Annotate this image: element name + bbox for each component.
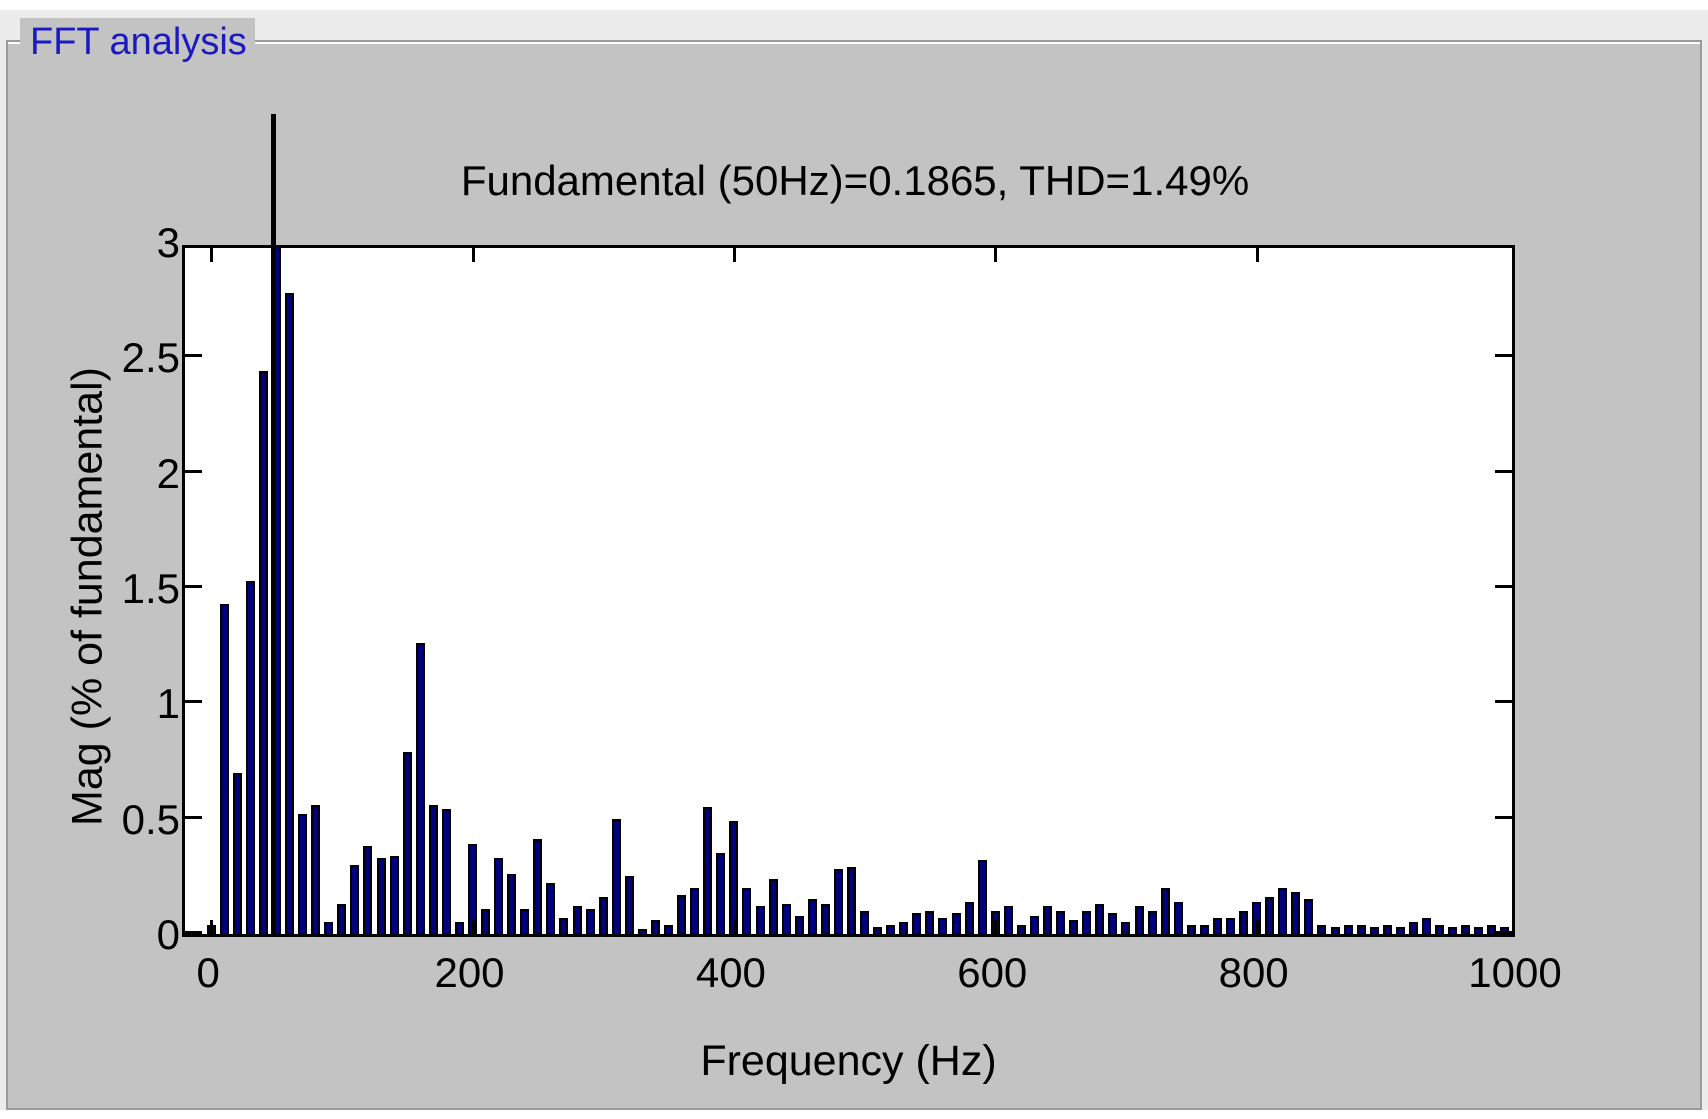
bar [1370, 927, 1379, 934]
x-tick [733, 248, 736, 262]
y-tick-label: 0 [157, 911, 180, 959]
bar [429, 805, 438, 934]
bar [1030, 916, 1039, 934]
bar [520, 909, 529, 934]
fft-analysis-panel: FFT analysis Fundamental (50Hz)=0.1865, … [0, 10, 1708, 1110]
bar [899, 922, 908, 934]
bar [403, 752, 412, 934]
bar [1265, 897, 1274, 934]
chart-title: Fundamental (50Hz)=0.1865, THD=1.49% [190, 157, 1520, 205]
bar [311, 805, 320, 934]
y-tick [1495, 816, 1512, 819]
bar [1069, 920, 1078, 934]
bar [978, 860, 987, 934]
x-tick [472, 248, 475, 262]
bar [494, 858, 503, 934]
bar [233, 773, 242, 934]
bar [821, 904, 830, 934]
bar [651, 920, 660, 934]
bar [860, 911, 869, 934]
y-tick [1495, 700, 1512, 703]
bar [925, 911, 934, 934]
bar [546, 883, 555, 934]
fundamental-marker-line [271, 114, 276, 937]
y-tick [185, 700, 202, 703]
bar [1291, 892, 1300, 934]
bar [1409, 922, 1418, 934]
x-tick-label: 600 [957, 949, 1027, 997]
bar [259, 371, 268, 934]
y-tick [185, 354, 202, 357]
x-tick-label: 800 [1219, 949, 1289, 997]
bar [1435, 925, 1444, 934]
bar [507, 874, 516, 934]
bar [1082, 911, 1091, 934]
x-tick [1256, 248, 1259, 262]
bar [1004, 906, 1013, 934]
bar [573, 906, 582, 934]
y-tick-label: 0.5 [122, 796, 180, 844]
bar [912, 913, 921, 934]
bar [677, 895, 686, 934]
panel-title: FFT analysis [20, 18, 255, 66]
bar [442, 809, 451, 934]
bar [847, 867, 856, 934]
y-tick-label: 1 [157, 680, 180, 728]
bar [246, 581, 255, 934]
bar [1344, 925, 1353, 934]
bar [1239, 911, 1248, 934]
x-tick [733, 920, 736, 934]
x-tick [210, 248, 213, 262]
bar [220, 604, 229, 934]
bar [1226, 918, 1235, 934]
x-tick [210, 920, 213, 934]
bar [808, 899, 817, 934]
bar [1187, 925, 1196, 934]
bar [1461, 925, 1470, 934]
bar [742, 888, 751, 934]
bar [716, 853, 725, 934]
bar [1317, 925, 1326, 934]
x-tick-label: 1000 [1468, 949, 1561, 997]
bar-series [185, 248, 1512, 934]
bar [938, 918, 947, 934]
bar [1396, 927, 1405, 934]
bar [1056, 911, 1065, 934]
y-tick [185, 470, 202, 473]
bar [664, 925, 673, 934]
bar [481, 909, 490, 934]
bar [1331, 927, 1340, 934]
bar [363, 846, 372, 934]
bar [586, 909, 595, 934]
bar [638, 929, 647, 934]
plot-axes [182, 245, 1515, 937]
bar [952, 913, 961, 934]
bar [612, 819, 621, 934]
y-tick [1495, 354, 1512, 357]
y-tick-label: 1.5 [122, 565, 180, 613]
bar [599, 897, 608, 934]
bar [1383, 925, 1392, 934]
bar [298, 814, 307, 934]
bar [690, 888, 699, 934]
bar [965, 902, 974, 934]
x-tick [1256, 920, 1259, 934]
bar [1200, 925, 1209, 934]
y-tick [185, 816, 202, 819]
x-tick-label: 400 [696, 949, 766, 997]
bar [559, 918, 568, 934]
bar [390, 856, 399, 934]
bar [782, 904, 791, 934]
bar [1148, 911, 1157, 934]
bar [729, 821, 738, 934]
y-tick-label: 3 [157, 219, 180, 267]
bar [350, 865, 359, 934]
figure-canvas: Fundamental (50Hz)=0.1865, THD=1.49% 00.… [10, 52, 1698, 1107]
bar [1121, 922, 1130, 934]
bar [1304, 899, 1313, 934]
bar [1448, 927, 1457, 934]
x-tick-label: 200 [434, 949, 504, 997]
bar [1174, 902, 1183, 934]
y-tick-label: 2 [157, 450, 180, 498]
bar [886, 925, 895, 934]
bar [416, 643, 425, 934]
plot-area [185, 248, 1512, 934]
y-tick [1495, 585, 1512, 588]
bar [769, 879, 778, 934]
bar [625, 876, 634, 934]
y-tick [1495, 931, 1512, 934]
bar [324, 922, 333, 934]
y-tick-label: 2.5 [122, 334, 180, 382]
y-tick [1495, 470, 1512, 473]
bar [337, 904, 346, 934]
bar [873, 927, 882, 934]
bar [1213, 918, 1222, 934]
bar [1161, 888, 1170, 934]
bar [1108, 913, 1117, 934]
bar [1278, 888, 1287, 934]
y-tick [185, 585, 202, 588]
y-tick [185, 931, 202, 934]
x-tick [994, 920, 997, 934]
bar [1017, 925, 1026, 934]
y-axis-label: Mag (% of fundamental) [64, 247, 113, 947]
bar [377, 858, 386, 934]
x-tick [472, 920, 475, 934]
x-tick [994, 248, 997, 262]
bar [1043, 906, 1052, 934]
bar [795, 916, 804, 934]
fft-analysis-screen: FFT analysis Fundamental (50Hz)=0.1865, … [0, 0, 1708, 1119]
bar [1095, 904, 1104, 934]
bar [1135, 906, 1144, 934]
x-tick-label: 0 [196, 949, 219, 997]
bar [285, 293, 294, 934]
bar [533, 839, 542, 934]
bar [1422, 918, 1431, 934]
x-axis-label: Frequency (Hz) [182, 1037, 1515, 1086]
bar [455, 922, 464, 934]
bar [834, 869, 843, 934]
bar [1474, 927, 1483, 934]
bar [1357, 925, 1366, 934]
bar [703, 807, 712, 934]
bar [756, 906, 765, 934]
